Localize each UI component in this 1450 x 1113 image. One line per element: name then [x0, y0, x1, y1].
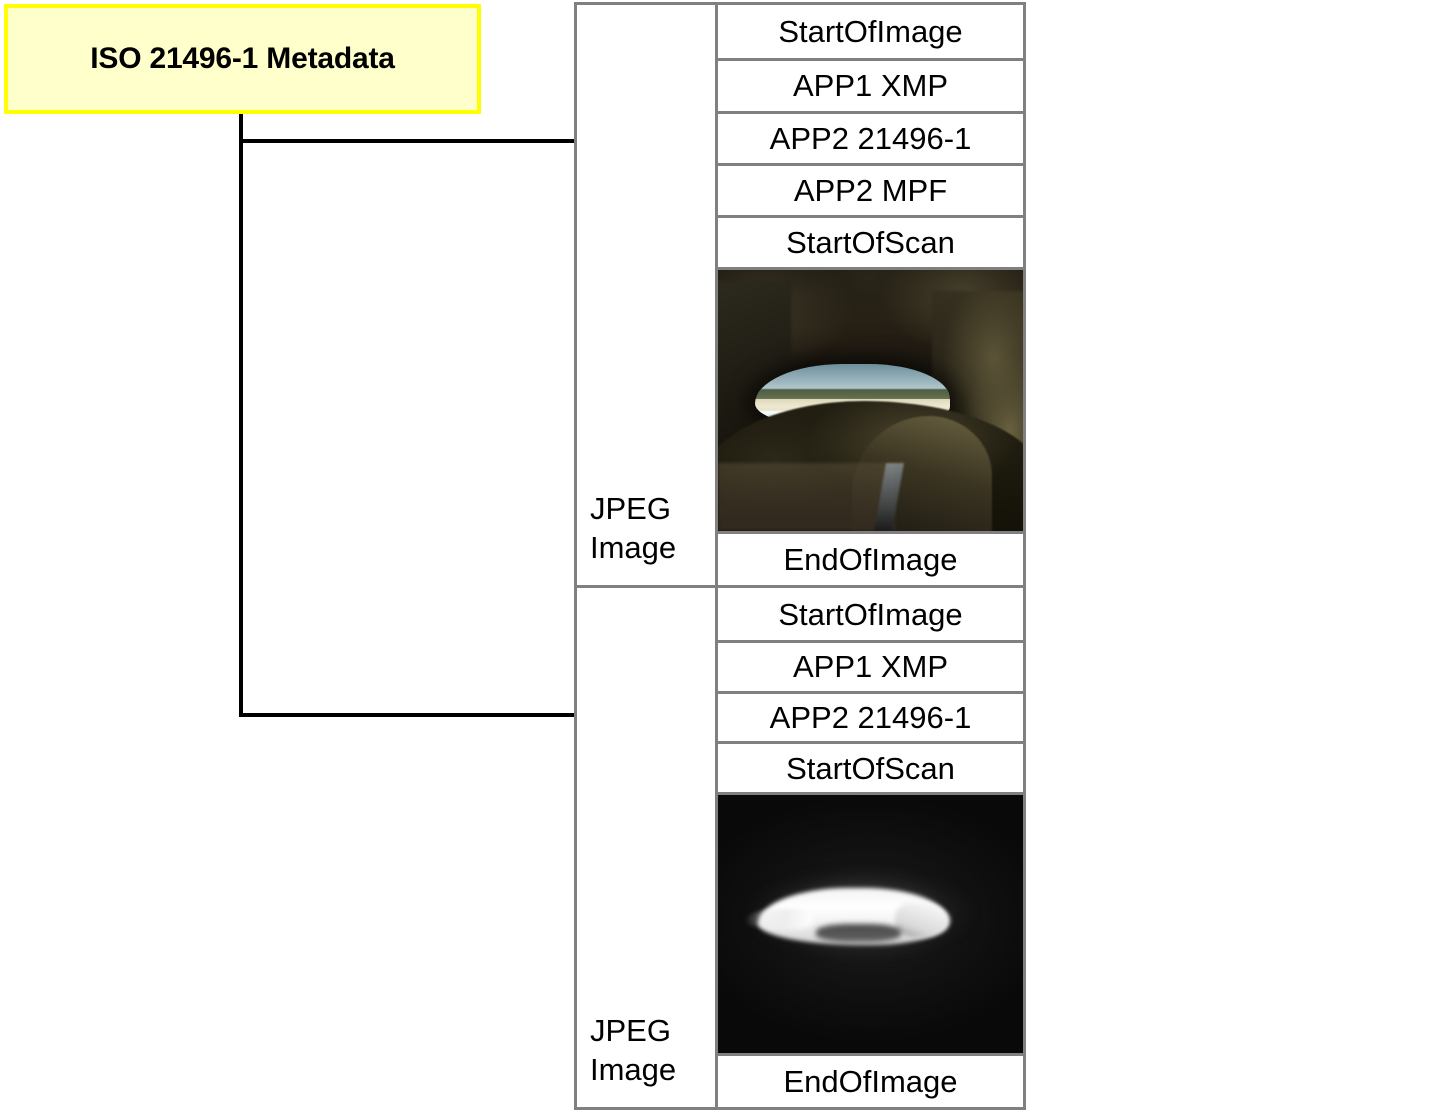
jpeg-structure-diagram: JPEG Image StartOfImage APP1 XMP APP2 21… [574, 2, 1026, 1110]
segment-label: StartOfScan [786, 753, 955, 784]
metadata-box-label: ISO 21496-1 Metadata [90, 42, 394, 76]
segment-image-data-primary [718, 270, 1023, 534]
segment-label: StartOfImage [778, 16, 962, 47]
segment-label: EndOfImage [783, 544, 957, 575]
jpeg-block-gainmap: JPEG Image StartOfImage APP1 XMP APP2 21… [577, 588, 1023, 1107]
segment-app2-21496-1: APP2 21496-1 [718, 694, 1023, 744]
gainmap-dark-notch [816, 924, 901, 942]
segment-end-of-image: EndOfImage [718, 534, 1023, 585]
jpeg-label-line-2: Image [590, 1050, 676, 1089]
segment-app2-mpf: APP2 MPF [718, 166, 1023, 218]
cave-photo [718, 270, 1023, 531]
jpeg-label-line-1: JPEG [590, 1011, 671, 1050]
segment-start-of-scan: StartOfScan [718, 744, 1023, 795]
jpeg-label-line-1: JPEG [590, 489, 671, 528]
cave-floor-sand [718, 463, 895, 531]
segment-app1-xmp: APP1 XMP [718, 61, 1023, 114]
jpeg-block-primary: JPEG Image StartOfImage APP1 XMP APP2 21… [577, 5, 1023, 588]
metadata-box: ISO 21496-1 Metadata [4, 4, 481, 114]
segment-label: APP1 XMP [793, 70, 948, 101]
segment-label: StartOfScan [786, 227, 955, 258]
gainmap-bright-right [895, 903, 950, 936]
jpeg-block-primary-label: JPEG Image [577, 5, 718, 585]
segment-label: StartOfImage [778, 599, 962, 630]
segment-label: APP2 21496-1 [770, 702, 972, 733]
segment-image-data-gainmap [718, 795, 1023, 1055]
jpeg-block-gainmap-segments: StartOfImage APP1 XMP APP2 21496-1 Start… [718, 588, 1023, 1107]
segment-app1-xmp: APP1 XMP [718, 643, 1023, 693]
segment-start-of-image: StartOfImage [718, 588, 1023, 643]
segment-start-of-image: StartOfImage [718, 5, 1023, 61]
segment-start-of-scan: StartOfScan [718, 218, 1023, 270]
gainmap-bright-tail [745, 909, 812, 930]
segment-label: APP2 21496-1 [770, 123, 972, 154]
segment-label: APP1 XMP [793, 651, 948, 682]
connector-trunk-vertical [239, 114, 243, 717]
gain-map-photo [718, 795, 1023, 1052]
jpeg-block-primary-segments: StartOfImage APP1 XMP APP2 21496-1 APP2 … [718, 5, 1023, 585]
jpeg-label-line-2: Image [590, 528, 676, 567]
jpeg-block-gainmap-label: JPEG Image [577, 588, 718, 1107]
segment-label: EndOfImage [783, 1066, 957, 1097]
segment-app2-21496-1: APP2 21496-1 [718, 114, 1023, 167]
segment-end-of-image: EndOfImage [718, 1056, 1023, 1107]
segment-label: APP2 MPF [794, 175, 947, 206]
